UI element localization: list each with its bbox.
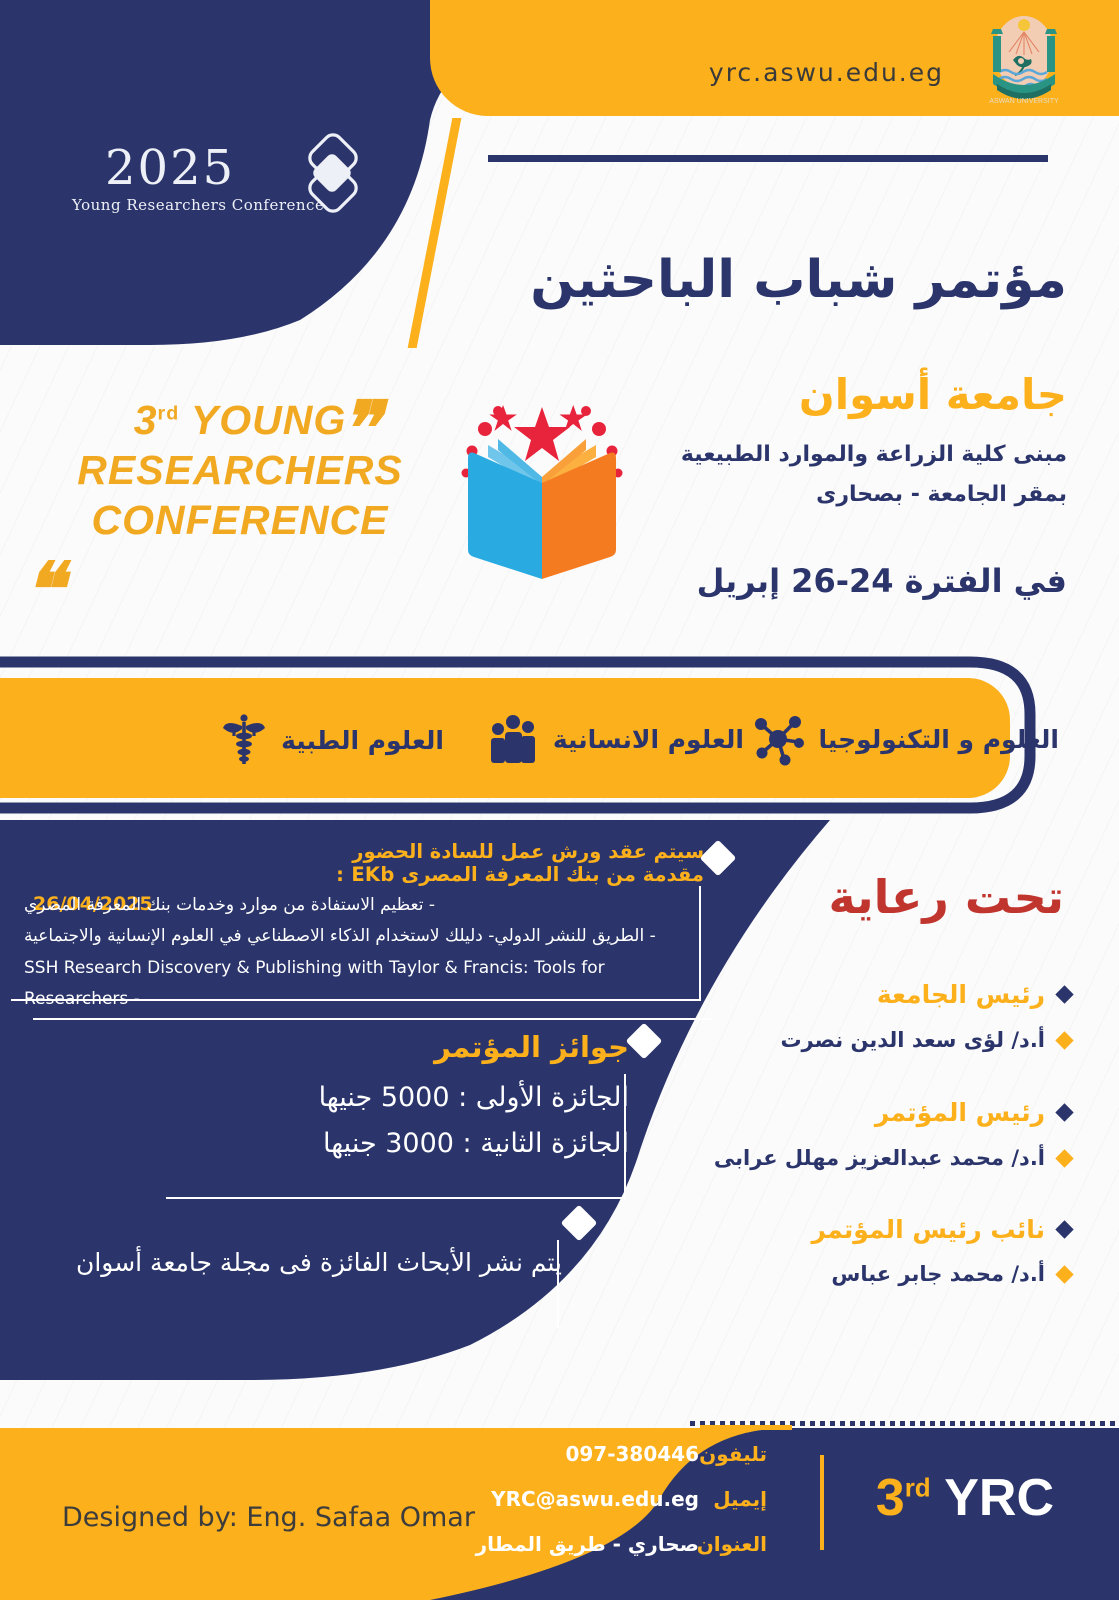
venue-line-1: مبنى كلية الزراعة والموارد الطبيعية (681, 442, 1067, 467)
university-name: جامعة أسوان (799, 370, 1067, 419)
english-title-line-3: CONFERENCE (91, 497, 388, 543)
track-item-technology[interactable]: العلوم و التكنولوجيا (751, 712, 1059, 766)
bullet-diamond-icon (1055, 1265, 1073, 1283)
sponsor-name-row: أ.د/ لؤى سعد الدين نصرت (780, 1028, 1071, 1052)
conference-dates: في الفترة 24-26 إبريل (697, 562, 1067, 600)
email-label: إيميل (713, 1487, 767, 1511)
sponsor-role: رئيس المؤتمر (875, 1098, 1045, 1127)
email-value[interactable]: YRC@aswu.edu.eg (491, 1487, 699, 1511)
track-item-humanities[interactable]: العلوم الانسانية (485, 712, 744, 766)
address-label: العنوان (697, 1532, 767, 1556)
people-group-icon (485, 712, 539, 766)
english-conference-title: 3rd YOUNG RESEARCHERS CONFERENCE (40, 395, 440, 545)
year-label: 2025 (105, 140, 235, 196)
footer-brand-ordinal-suffix: rd (905, 1473, 931, 1503)
sponsor-role: رئيس الجامعة (877, 980, 1045, 1009)
sponsor-name-row: أ.د/ محمد عبدالعزيز مهلل عرابى (714, 1146, 1071, 1170)
phone-value[interactable]: 097-380446 (565, 1442, 699, 1466)
page-title: مؤتمر شباب الباحثين (530, 250, 1067, 310)
conference-website-url[interactable]: yrc.aswu.edu.eg (709, 58, 944, 87)
workshop-item: SSH Research Discovery & Publishing with… (24, 953, 704, 1016)
footer-brand: 3rd YRC (876, 1468, 1054, 1528)
sponsors-title: تحت رعاية (829, 870, 1064, 924)
caduceus-medical-icon (221, 712, 267, 768)
award-first-prize: الجائزة الأولى : 5000 جنيها (319, 1082, 629, 1113)
english-ordinal: 3 (134, 397, 158, 443)
sponsor-name: أ.د/ محمد عبدالعزيز مهلل عرابى (714, 1146, 1045, 1170)
track-item-medical[interactable]: العلوم الطبية (221, 712, 444, 768)
english-ordinal-suffix: rd (158, 402, 180, 424)
english-title-line-2: RESEARCHERS (77, 447, 402, 493)
open-book-stars-icon (452, 385, 632, 585)
sponsor-role-row: رئيس الجامعة (877, 980, 1071, 1009)
footer-brand-name: YRC (944, 1469, 1054, 1527)
bullet-diamond-icon (1055, 1031, 1073, 1049)
year-subtitle: Young Researchers Conference (72, 196, 324, 214)
sponsor-role-row: نائب رئيس المؤتمر (812, 1215, 1071, 1244)
molecule-network-icon (751, 712, 805, 766)
bullet-diamond-icon (1055, 1103, 1073, 1121)
track-label: العلوم الطبية (281, 726, 444, 755)
address-value: صحاري - طريق المطار (476, 1532, 699, 1556)
awards-heading: جوائز المؤتمر (434, 1030, 629, 1064)
footer-brand-ordinal: 3 (876, 1469, 905, 1527)
sponsor-name: أ.د/ لؤى سعد الدين نصرت (780, 1028, 1045, 1052)
bullet-diamond-icon (1055, 985, 1073, 1003)
designer-credit: Designed by: Eng. Safaa Omar (62, 1502, 475, 1533)
sponsor-name: أ.د/ محمد جابر عباس (831, 1262, 1045, 1286)
header-blue-rule (488, 155, 1048, 162)
workshops-divider-rule (33, 1018, 713, 1020)
workshop-item: - تعظيم الاستفادة من موارد وخدمات بنك ال… (24, 890, 704, 921)
phone-label: تليفون (699, 1442, 767, 1466)
sponsor-role: نائب رئيس المؤتمر (812, 1215, 1045, 1244)
english-title-line-1: YOUNG (191, 397, 346, 443)
sponsor-role-row: رئيس المؤتمر (875, 1098, 1071, 1127)
bullet-diamond-icon (1055, 1149, 1073, 1167)
track-label: العلوم الانسانية (553, 725, 744, 754)
aswan-university-seal-icon: ASWAN UNIVERSITY (987, 8, 1061, 108)
publication-note: يتم نشر الأبحاث الفائزة فى مجلة جامعة أس… (76, 1248, 562, 1277)
workshops-heading: سيتم عقد ورش عمل للسادة الحضور مقدمة من … (309, 840, 704, 886)
sponsor-name-row: أ.د/ محمد جابر عباس (831, 1262, 1071, 1286)
conference-poster: yrc.aswu.edu.eg ASWAN UNIVERSITY 2025 Yo… (0, 0, 1119, 1600)
award-second-prize: الجائزة الثانية : 3000 جنيها (323, 1128, 629, 1159)
footer-orange-rule (700, 1425, 792, 1430)
seal-caption: ASWAN UNIVERSITY (989, 98, 1059, 105)
workshop-item: - الطريق للنشر الدولي- دليلك لاستخدام ال… (24, 921, 704, 952)
venue-line-2: بمقر الجامعة - بصحارى (816, 482, 1067, 507)
track-label: العلوم و التكنولوجيا (819, 725, 1059, 754)
diamond-layers-icon (298, 133, 366, 213)
workshops-list: - تعظيم الاستفادة من موارد وخدمات بنك ال… (24, 890, 704, 1016)
footer-divider (820, 1455, 824, 1550)
bullet-diamond-icon (1055, 1220, 1073, 1238)
